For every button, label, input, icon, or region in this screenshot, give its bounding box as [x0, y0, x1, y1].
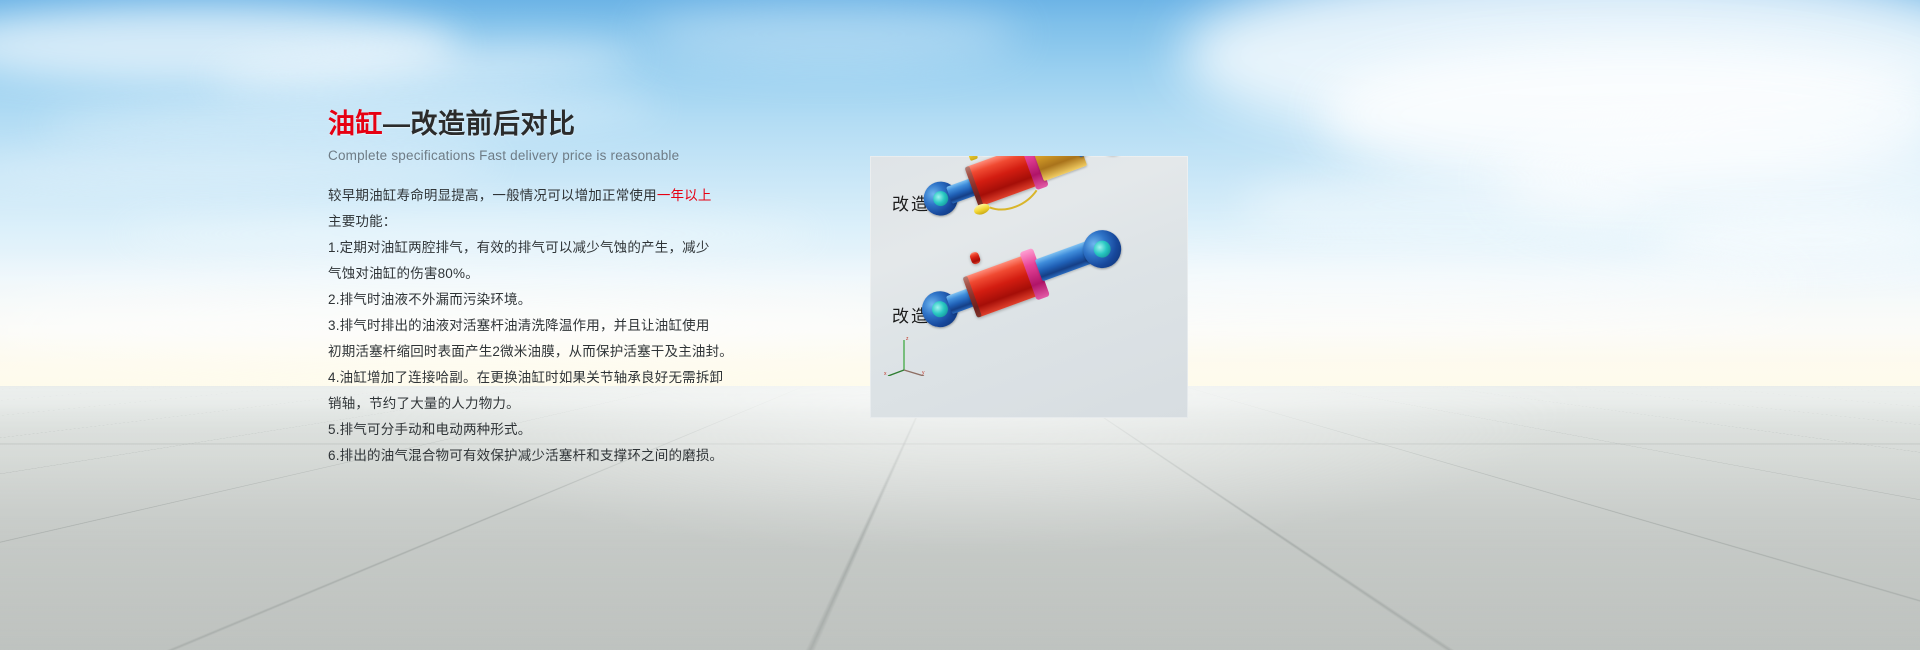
ground-highlight [0, 386, 1920, 650]
body-line: 4.油缸增加了连接哈副。在更换油缸时如果关节轴承良好无需拆卸 [328, 365, 848, 391]
body-line: 较早期油缸寿命明显提高，一般情况可以增加正常使用一年以上 [328, 183, 848, 209]
body-line: 主要功能： [328, 209, 848, 235]
svg-text:x: x [884, 371, 887, 376]
body-line-emphasis: 一年以上 [657, 188, 712, 203]
body-line: 1.定期对油缸两腔排气，有效的排气可以减少气蚀的产生，减少 [328, 235, 848, 261]
rod-eye-right [1078, 225, 1127, 274]
body-line: 3.排气时排出的油液对活塞杆油清洗降温作用，并且让油缸使用 [328, 313, 848, 339]
vent-hose [961, 156, 1101, 227]
page-title: 油缸—改造前后对比 [328, 108, 848, 140]
copy-block: 油缸—改造前后对比 Complete specifications Fast d… [328, 108, 848, 469]
body-line: 销轴，节约了大量的人力物力。 [328, 391, 848, 417]
ground-plane [0, 386, 1920, 650]
svg-text:z: z [906, 336, 909, 342]
body-line: 初期活塞杆缩回时表面产生2微米油膜，从而保护活塞干及主油封。 [328, 339, 848, 365]
top-knob [969, 251, 982, 265]
page-title-highlight: 油缸 [328, 109, 383, 139]
product-image-panel: 改造后 改造前 z x y [870, 156, 1188, 418]
coordinate-axis-icon: z x y [884, 334, 928, 376]
svg-text:y: y [922, 370, 925, 376]
page-title-rest: —改造前后对比 [383, 109, 576, 139]
cloud-bank [1240, 170, 1660, 240]
rod-eye-right [1091, 156, 1135, 160]
body-line: 气蚀对油缸的伤害80%。 [328, 261, 848, 287]
banner-stage: 油缸—改造前后对比 Complete specifications Fast d… [0, 0, 1920, 650]
body-line: 2.排气时油液不外漏而污染环境。 [328, 287, 848, 313]
rod-eye-bore [1091, 238, 1113, 260]
body-line: 6.排出的油气混合物可有效保护减少活塞杆和支撑环之间的磨损。 [328, 443, 848, 469]
cloud-wisp [640, 4, 1020, 64]
subtitle: Complete specifications Fast delivery pr… [328, 148, 848, 163]
body-copy: 较早期油缸寿命明显提高，一般情况可以增加正常使用一年以上 主要功能： 1.定期对… [328, 183, 848, 469]
body-line-text: 较早期油缸寿命明显提高，一般情况可以增加正常使用 [328, 188, 657, 203]
body-line: 5.排气可分手动和电动两种形式。 [328, 417, 848, 443]
